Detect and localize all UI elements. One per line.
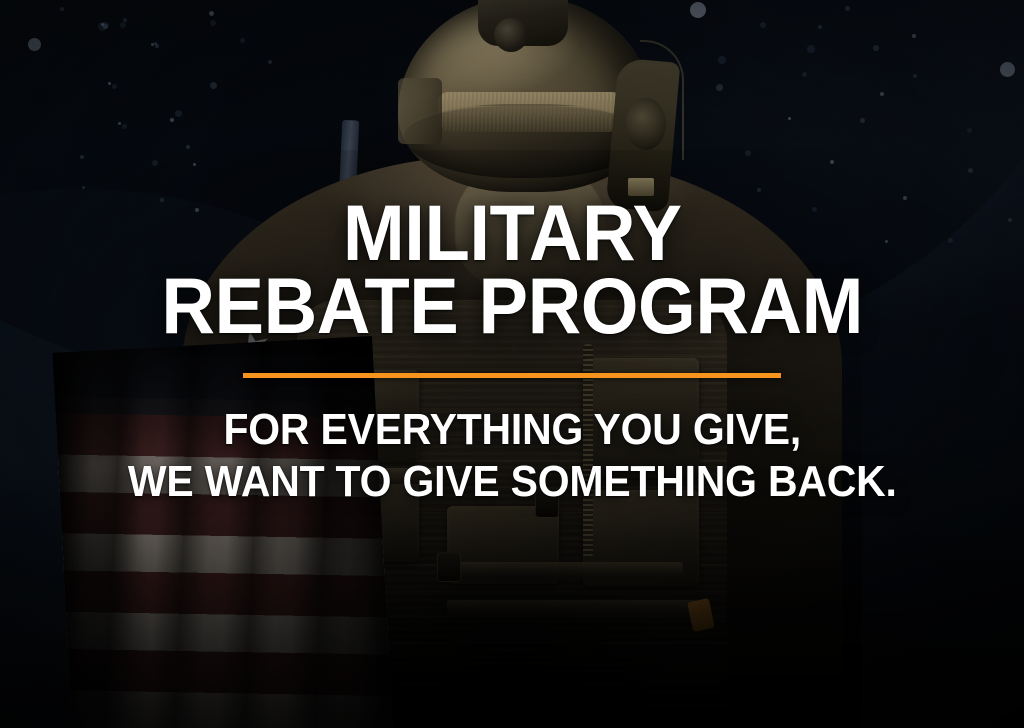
headline-line-1: MILITARY (161, 196, 863, 269)
page-title: MILITARY REBATE PROGRAM (161, 196, 863, 343)
subtitle: FOR EVERYTHING YOU GIVE, WE WANT TO GIVE… (128, 404, 897, 508)
subtitle-line-1: FOR EVERYTHING YOU GIVE, (128, 404, 897, 456)
banner-content: MILITARY REBATE PROGRAM FOR EVERYTHING Y… (0, 0, 1024, 728)
subtitle-line-2: WE WANT TO GIVE SOMETHING BACK. (128, 456, 897, 508)
military-rebate-banner: MILITARY REBATE PROGRAM FOR EVERYTHING Y… (0, 0, 1024, 728)
orange-divider (243, 373, 781, 378)
headline-line-2: REBATE PROGRAM (161, 269, 863, 342)
